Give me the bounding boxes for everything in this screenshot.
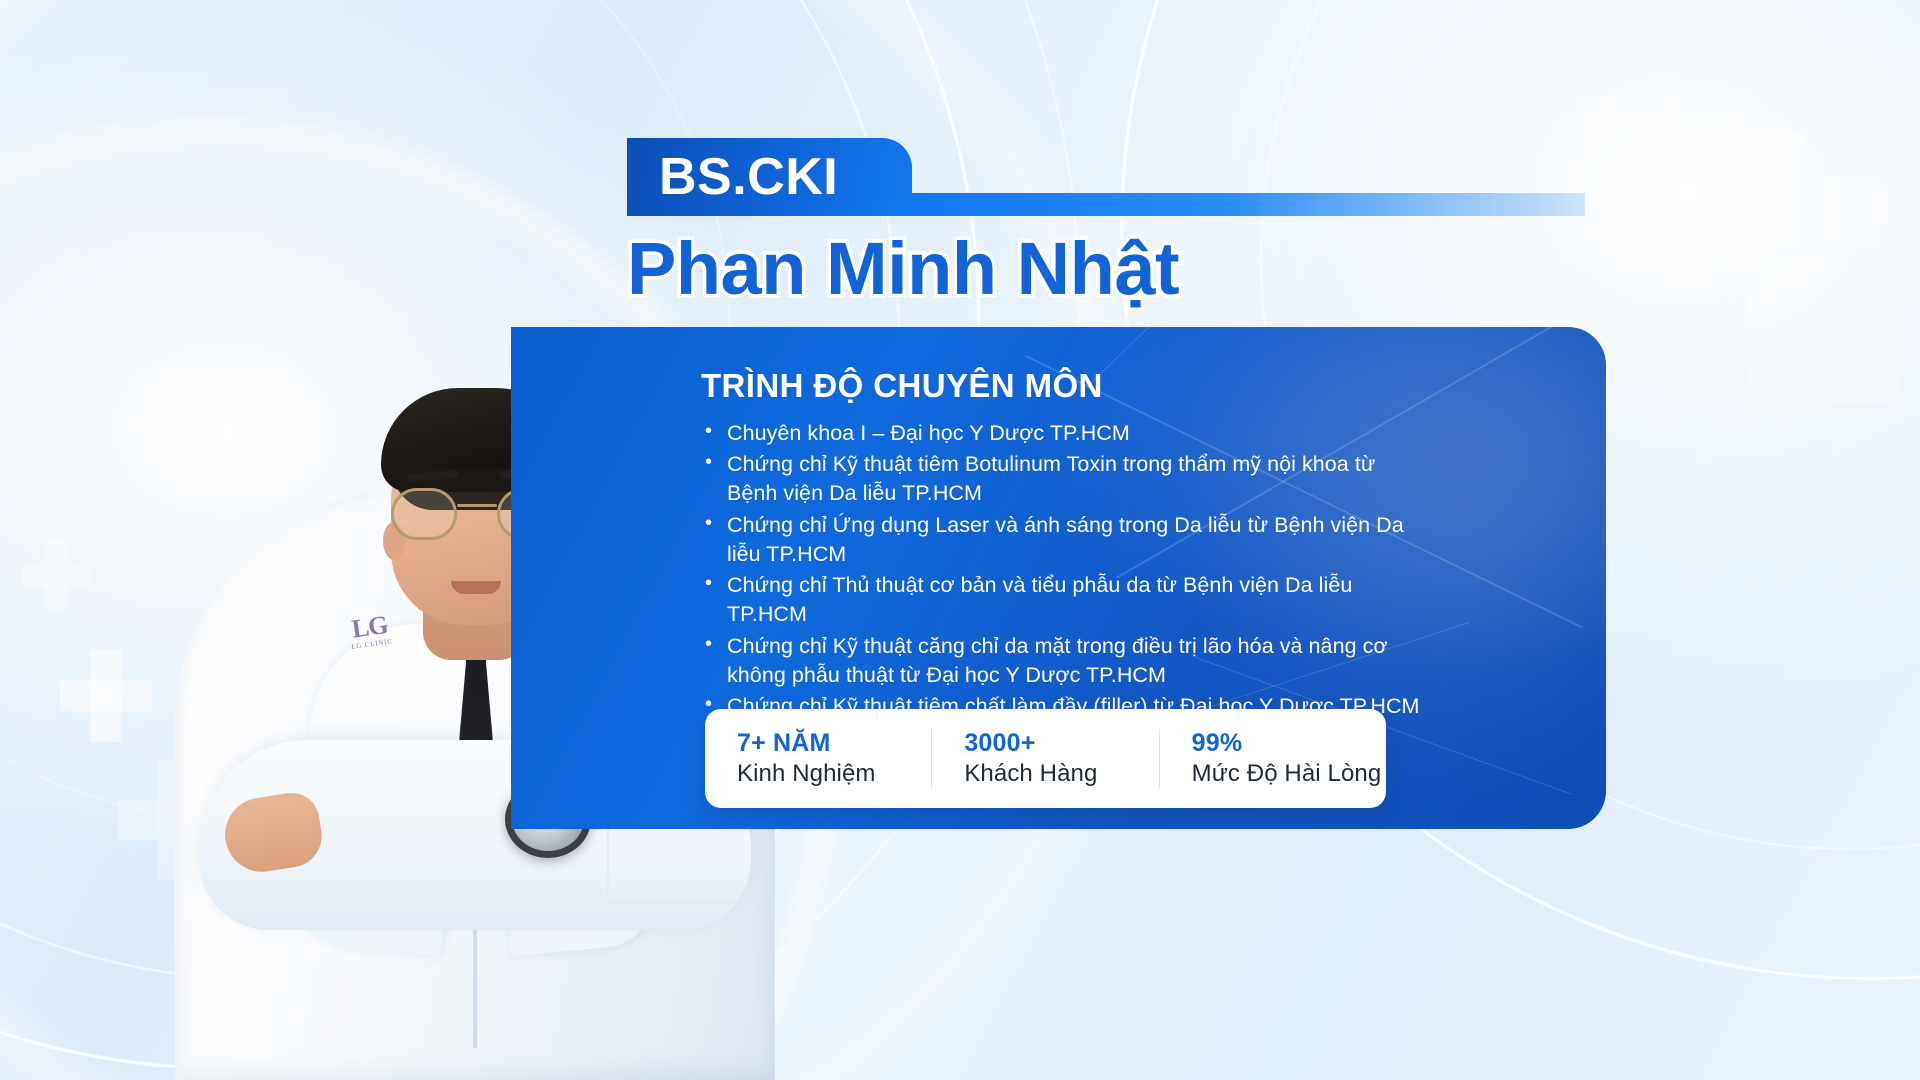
stat-label: Kinh Nghiệm (737, 759, 931, 788)
glasses-lens-left (391, 488, 457, 540)
doctor-degree-label: BS.CKI (659, 151, 838, 203)
stats-bar: 7+ NĂM Kinh Nghiệm 3000+ Khách Hàng 99% … (705, 709, 1386, 808)
badge-tail-bar (905, 193, 1585, 216)
stat-label: Mức Độ Hài Lòng (1192, 759, 1386, 788)
stat-value: 7+ NĂM (737, 729, 931, 759)
list-item: Chứng chỉ Ứng dụng Laser và ánh sáng tro… (701, 511, 1431, 569)
credentials-list: Chuyên khoa I – Đại học Y Dược TP.HCM Ch… (701, 419, 1431, 723)
stat-customers: 3000+ Khách Hàng (931, 729, 1158, 788)
stat-satisfaction: 99% Mức Độ Hài Lòng (1159, 729, 1386, 788)
stat-experience: 7+ NĂM Kinh Nghiệm (705, 729, 931, 788)
glasses-bridge (457, 504, 497, 507)
coat-shoulder-logo: LG LG CLINIC (340, 610, 406, 691)
qualifications-title: TRÌNH ĐỘ CHUYÊN MÔN (701, 367, 1103, 405)
doctor-name: Phan Minh Nhật (627, 228, 1179, 311)
stat-value: 3000+ (964, 729, 1158, 759)
doctor-mouth (451, 581, 501, 594)
list-item: Chuyên khoa I – Đại học Y Dược TP.HCM (701, 419, 1431, 448)
stat-label: Khách Hàng (964, 759, 1158, 788)
list-item: Chứng chỉ Thủ thuật cơ bản và tiểu phẫu … (701, 571, 1431, 629)
coat-pocket (607, 826, 735, 904)
list-item: Chứng chỉ Kỹ thuật tiêm Botulinum Toxin … (701, 450, 1431, 508)
doctor-degree-badge: BS.CKI (627, 138, 912, 216)
list-item: Chứng chỉ Kỹ thuật căng chỉ da mặt trong… (701, 632, 1431, 690)
stat-value: 99% (1192, 729, 1386, 759)
